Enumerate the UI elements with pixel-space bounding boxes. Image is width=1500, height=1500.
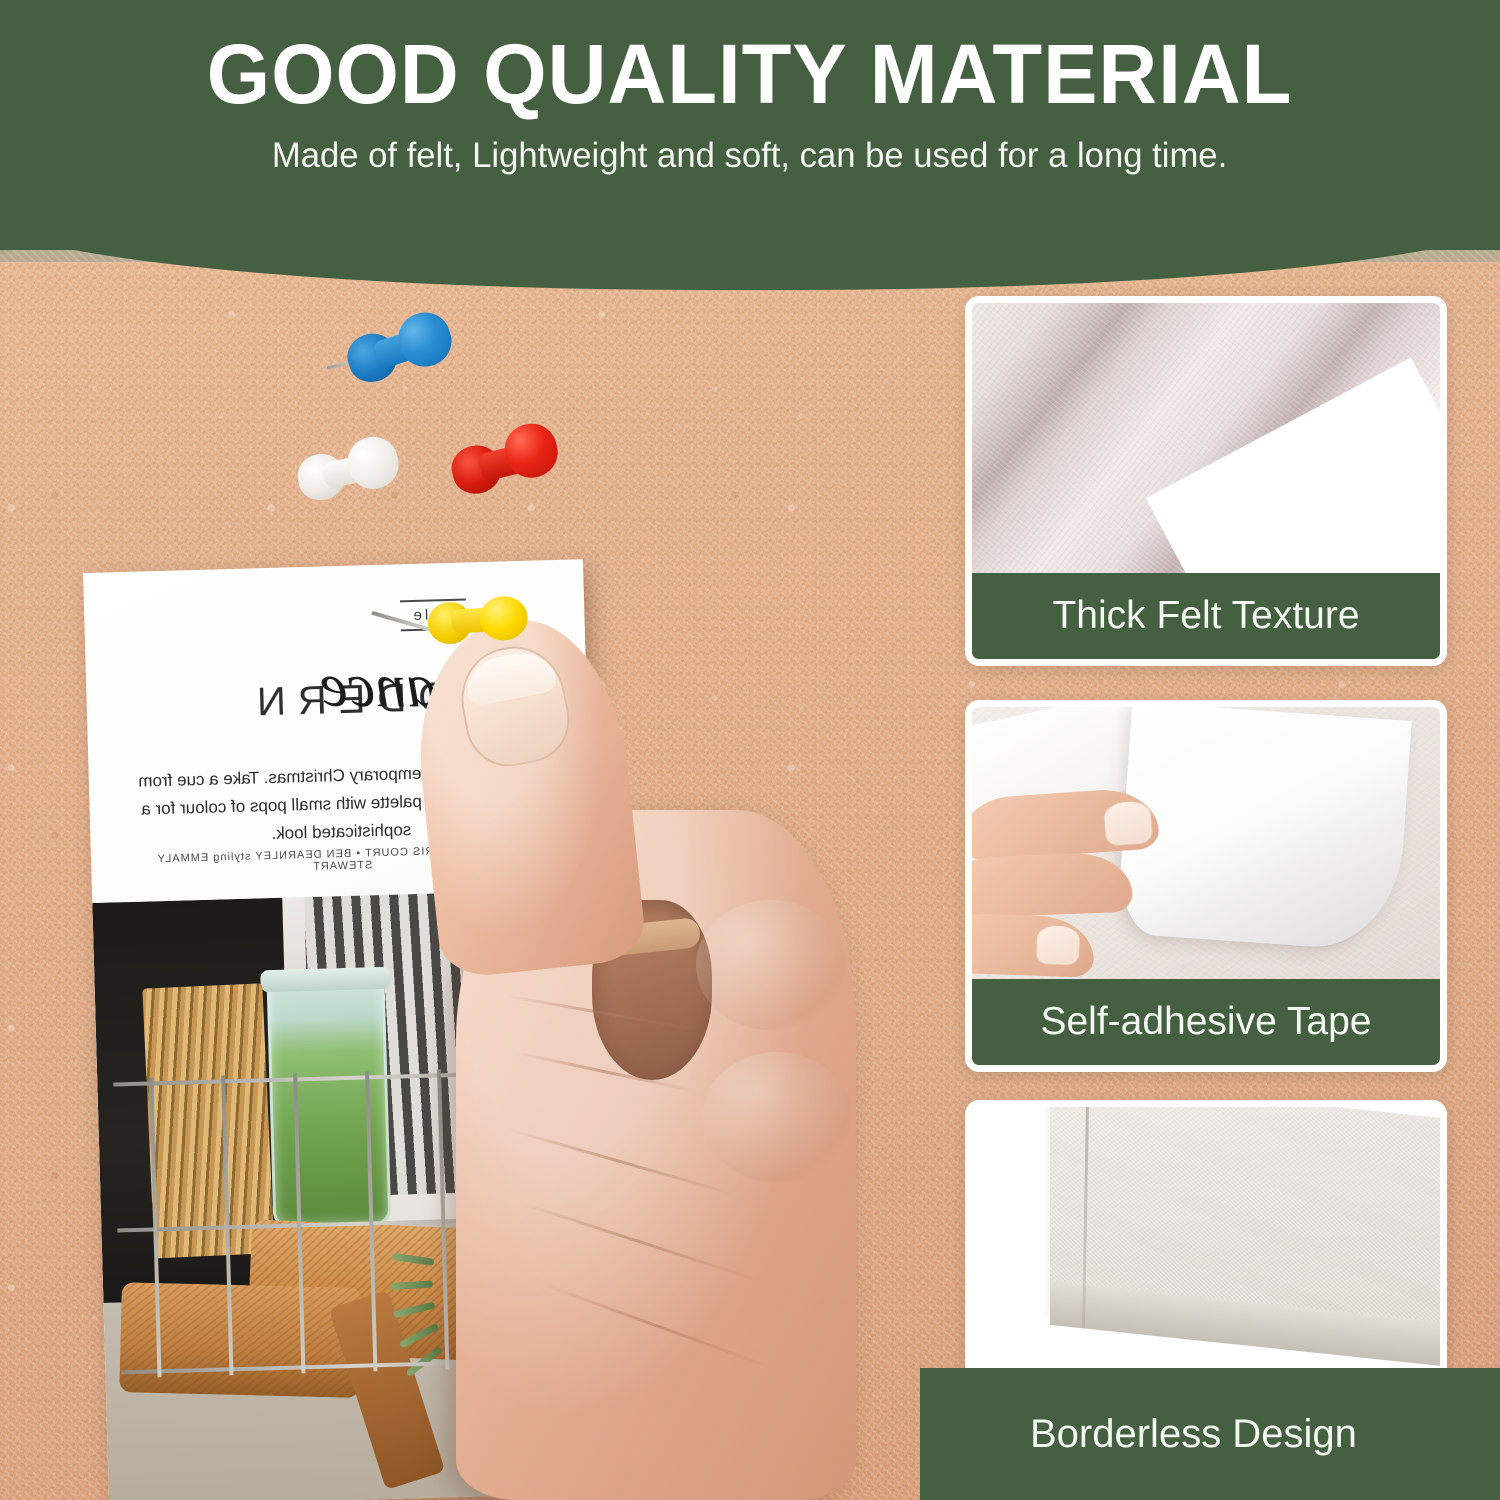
feature-card-thick-felt-texture[interactable]: Thick Felt Texture xyxy=(965,296,1447,666)
tape-fingernail-index xyxy=(1103,799,1154,846)
feature-caption-2: Self-adhesive Tape xyxy=(1040,1000,1371,1044)
feature-image-thick-felt-texture xyxy=(972,303,1440,575)
page-subtitle: Made of felt, Lightweight and soft, can … xyxy=(272,134,1227,178)
page-title: GOOD QUALITY MATERIAL xyxy=(207,28,1293,120)
tape-fingernail-ring xyxy=(1035,924,1080,966)
tape-hand xyxy=(965,779,1192,989)
header-banner: GOOD QUALITY MATERIAL Made of felt, Ligh… xyxy=(0,0,1500,250)
feature-image-self-adhesive-tape xyxy=(972,707,1440,981)
feature-image-borderless-design xyxy=(972,1107,1440,1397)
feature-caption-bar-1: Thick Felt Texture xyxy=(972,573,1440,659)
tape-finger-middle xyxy=(965,852,1133,918)
feature-card-self-adhesive-tape[interactable]: Self-adhesive Tape xyxy=(965,700,1447,1072)
feature-caption-1: Thick Felt Texture xyxy=(1052,594,1359,638)
feature-caption-bar-2: Self-adhesive Tape xyxy=(972,979,1440,1065)
feature-caption-3: Borderless Design xyxy=(1030,1412,1357,1457)
product-infographic: GOOD QUALITY MATERIAL Made of felt, Ligh… xyxy=(0,0,1500,1500)
feature-caption-bar-3: Borderless Design xyxy=(920,1368,1500,1500)
